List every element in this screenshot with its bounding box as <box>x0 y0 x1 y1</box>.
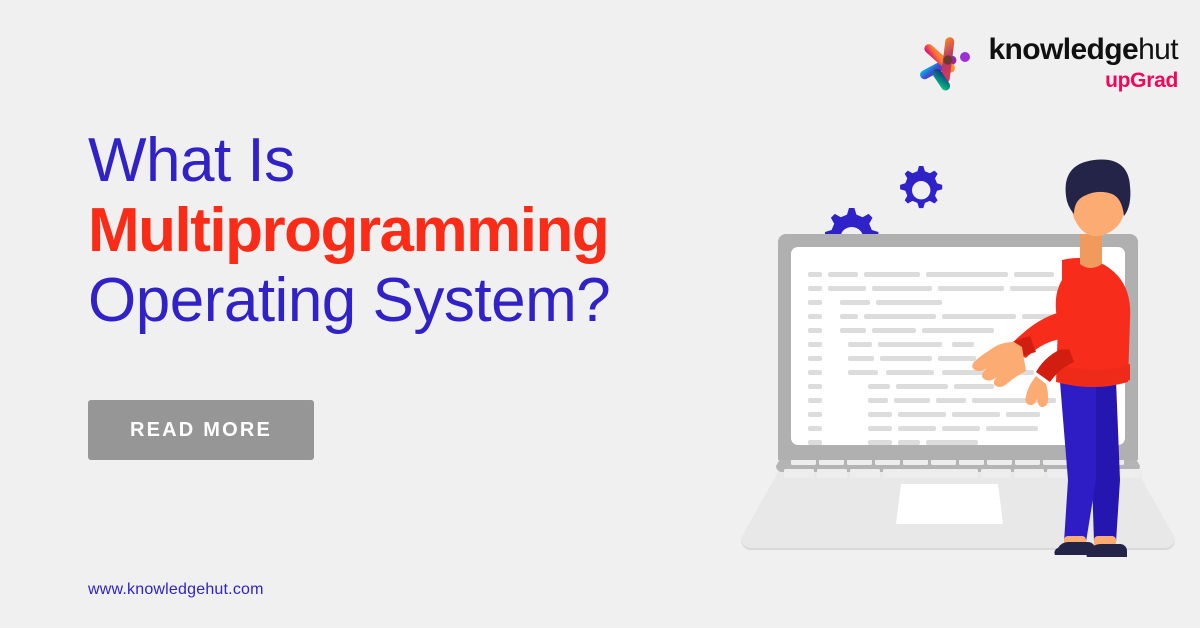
gear-small-icon <box>900 166 942 208</box>
headline-line-2-accent: Multiprogramming <box>88 196 728 266</box>
laptop-trackpad <box>896 484 1003 524</box>
page-title: What Is Multiprogramming Operating Syste… <box>88 126 728 336</box>
headline-line-3: Operating System? <box>88 266 728 336</box>
brand-wordmark: knowledgehut upGrad <box>988 35 1178 91</box>
headline-line-1: What Is <box>88 126 728 196</box>
website-url[interactable]: www.knowledgehut.com <box>88 581 264 599</box>
knowledgehut-logo-mark-icon <box>916 32 978 94</box>
brand-sub-name: upGrad <box>1105 70 1178 91</box>
brand-logo[interactable]: knowledgehut upGrad <box>916 32 1178 94</box>
brand-name-light: hut <box>1138 33 1178 66</box>
read-more-button[interactable]: READ MORE <box>88 400 314 460</box>
brand-name-bold: knowledge <box>988 33 1138 66</box>
developer-at-laptop-illustration <box>728 150 1188 580</box>
promo-banner: knowledgehut upGrad What Is Multiprogram… <box>0 0 1200 628</box>
